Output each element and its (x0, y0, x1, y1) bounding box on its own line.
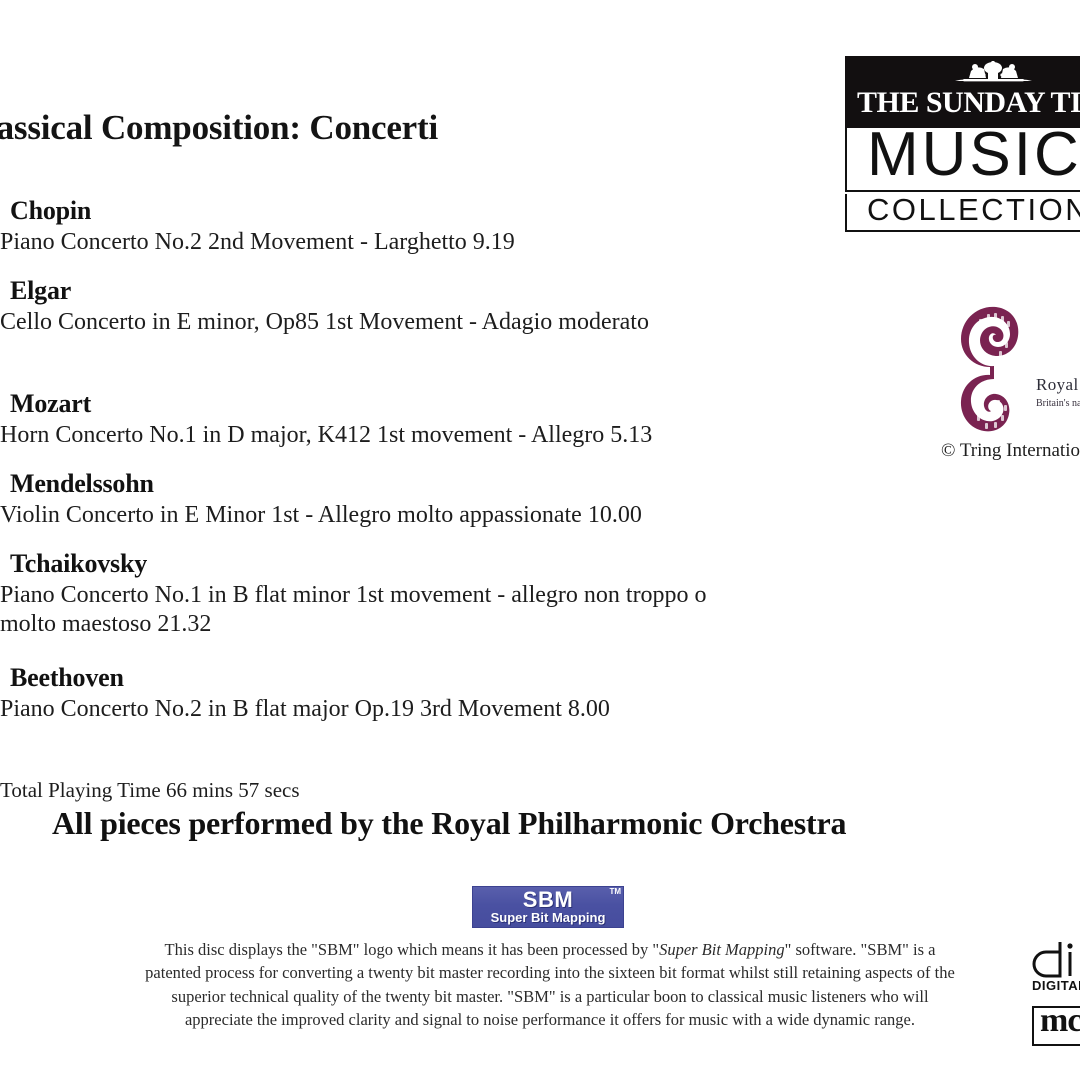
mcps-label: mcps (1040, 1006, 1080, 1040)
sbm-sub-label: Super Bit Mapping (472, 910, 624, 925)
track-composer: Mozart (10, 389, 652, 419)
track-work: Piano Concerto No.1 in B flat minor 1st … (0, 581, 760, 640)
track-row: Beethoven Piano Concerto No.2 in B flat … (0, 663, 610, 724)
cd-disc-icon (1030, 938, 1080, 982)
track-work: Cello Concerto in E minor, Op85 1st Move… (0, 308, 649, 337)
sbm-notice-part1: This disc displays the "SBM" logo which … (165, 940, 660, 959)
mcps-mark: mcps (1032, 1006, 1080, 1046)
sbm-notice-paragraph: This disc displays the "SBM" logo which … (140, 938, 960, 1032)
track-row: Chopin Piano Concerto No.2 2nd Movement … (0, 196, 515, 257)
rpo-tagline-label: Britain's national orchestra (1036, 398, 1080, 409)
masthead-paper-name: THE SUNDAY TIMES (857, 86, 1080, 120)
track-composer: Elgar (10, 276, 649, 306)
page-title: Classical Composition: Concerti (0, 108, 438, 148)
rpo-scroll-icon (960, 305, 1022, 433)
masthead-collection-word: COLLECTION (845, 194, 1080, 232)
masthead-black-bar: THE SUNDAY TIMES (845, 56, 1080, 128)
track-row: Tchaikovsky Piano Concerto No.1 in B fla… (0, 549, 760, 640)
sbm-notice-italic: Super Bit Mapping (659, 940, 785, 959)
compact-disc-digital-audio-logo: COMPACT DIGITAL AUDIO mcps (1030, 938, 1080, 996)
rpo-name-label: Royal Philharmonic Orchestra (1036, 375, 1080, 395)
track-work: Violin Concerto in E Minor 1st - Allegro… (0, 501, 642, 530)
track-row: Mozart Horn Concerto No.1 in D major, K4… (0, 389, 652, 450)
sbm-logo: SBM Super Bit Mapping TM (472, 886, 624, 928)
cd-digital-audio-label: DIGITAL AUDIO (1032, 978, 1080, 993)
track-row: Mendelssohn Violin Concerto in E Minor 1… (0, 469, 642, 530)
track-work: Horn Concerto No.1 in D major, K412 1st … (0, 421, 652, 450)
track-work: Piano Concerto No.2 2nd Movement - Largh… (0, 228, 515, 257)
cd-disc-mark: COMPACT DIGITAL AUDIO (1030, 938, 1080, 996)
sunday-times-masthead: THE SUNDAY TIMES MUSIC COLLECTION (845, 56, 1080, 232)
track-composer: Mendelssohn (10, 469, 642, 499)
track-work: Piano Concerto No.2 in B flat major Op.1… (0, 695, 610, 724)
copyright-line: © Tring International (941, 440, 1080, 462)
track-composer: Chopin (10, 196, 515, 226)
royal-crest-icon (941, 61, 1046, 85)
total-playing-time: Total Playing Time 66 mins 57 secs (0, 778, 300, 803)
masthead-music-label: MUSIC (867, 128, 1080, 190)
masthead-music-word: MUSIC (845, 128, 1080, 192)
track-row: Elgar Cello Concerto in E minor, Op85 1s… (0, 276, 649, 337)
sbm-trademark-label: TM (609, 887, 621, 896)
track-composer: Beethoven (10, 663, 610, 693)
masthead-collection-label: COLLECTION (867, 194, 1080, 228)
track-composer: Tchaikovsky (10, 549, 760, 579)
performer-credit: All pieces performed by the Royal Philha… (52, 805, 846, 842)
